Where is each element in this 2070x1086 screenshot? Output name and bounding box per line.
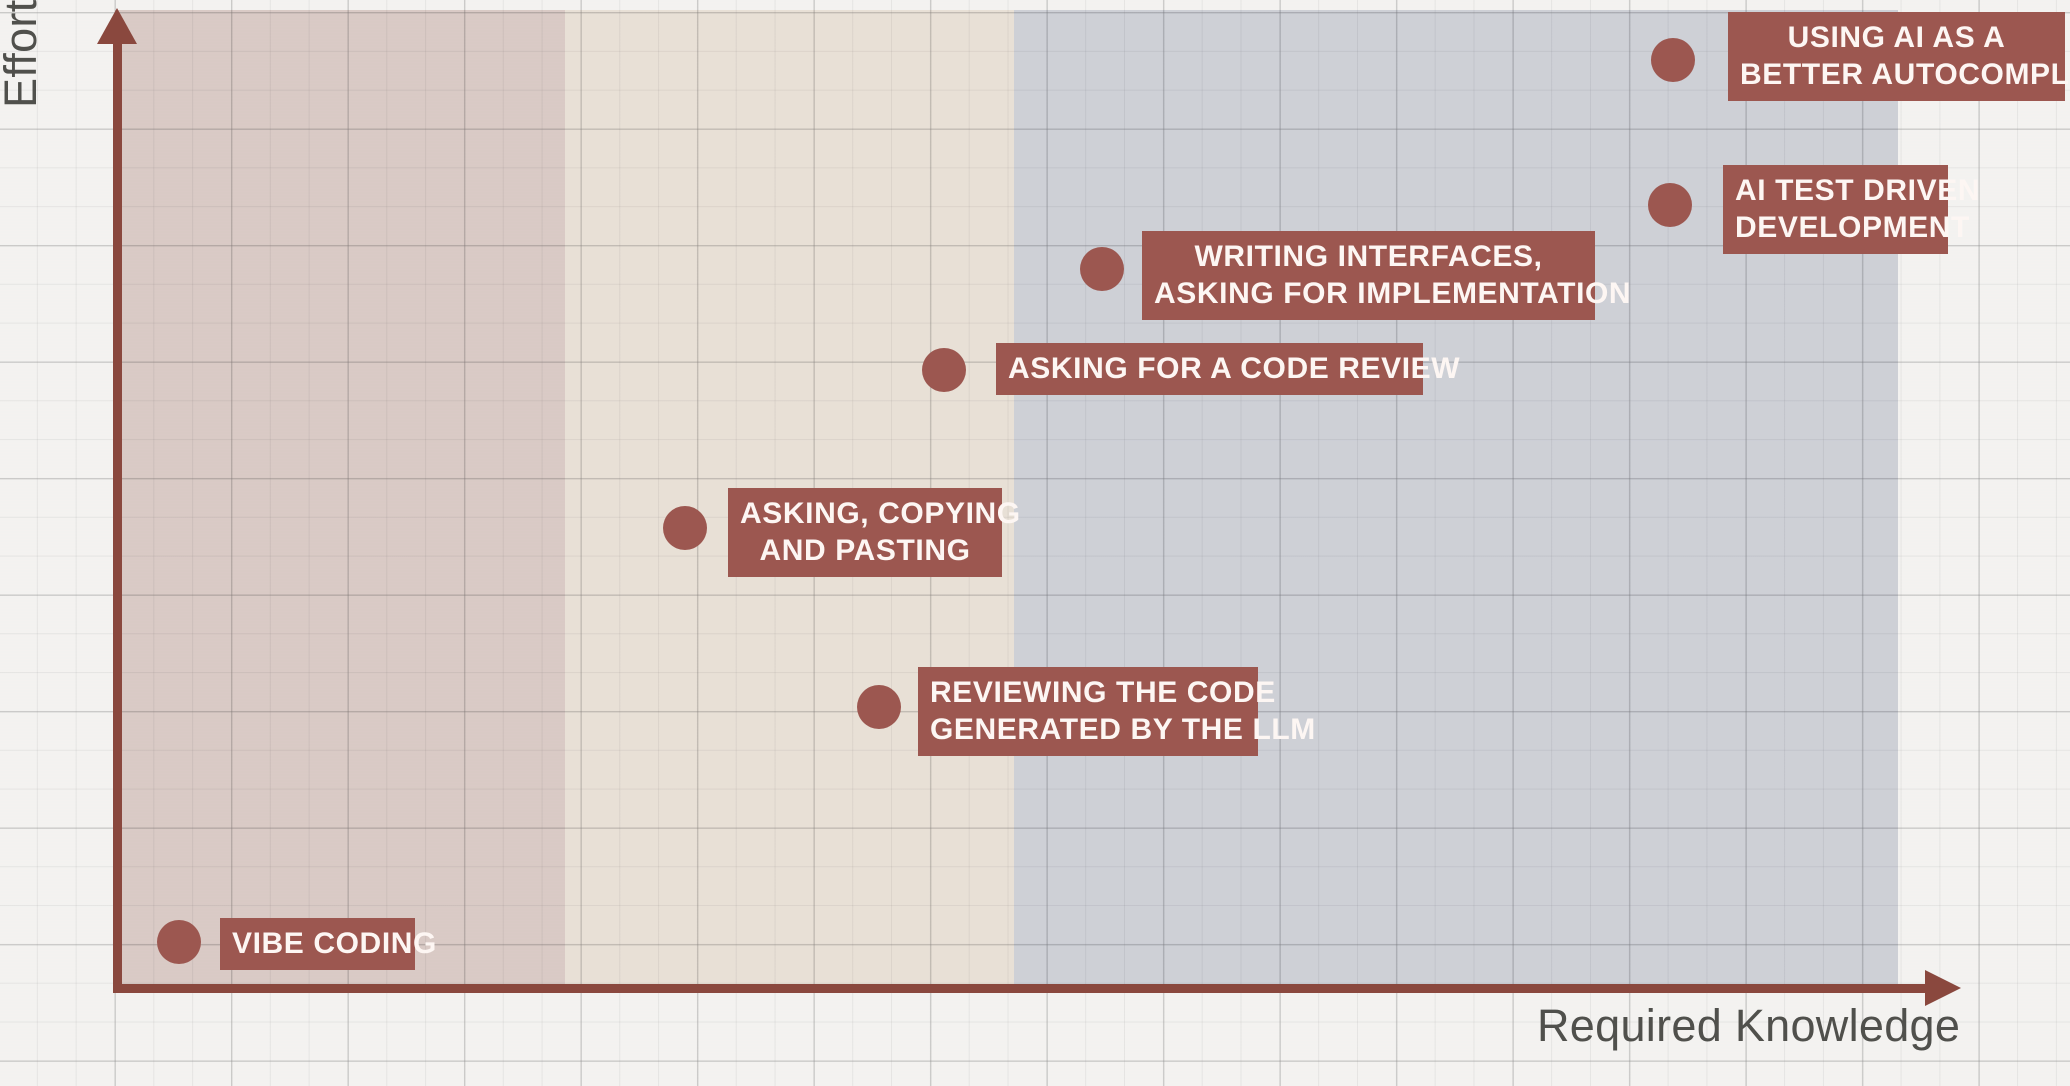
data-point-writing-interfaces[interactable]: [1080, 247, 1124, 291]
data-point-ai-test-driven-development[interactable]: [1648, 183, 1692, 227]
data-point-asking-copying-pasting[interactable]: [663, 506, 707, 550]
x-axis-title: Required Knowledge: [1537, 1000, 1960, 1052]
label-asking-code-review[interactable]: ASKING FOR A CODE REVIEW: [996, 343, 1423, 395]
x-axis-line: [113, 984, 1930, 993]
label-writing-interfaces[interactable]: WRITING INTERFACES, ASKING FOR IMPLEMENT…: [1142, 231, 1595, 320]
label-using-ai-autocomplete[interactable]: USING AI AS A BETTER AUTOCOMPLETE: [1728, 12, 2065, 101]
y-axis-arrowhead-icon: [97, 8, 137, 44]
chart-canvas: Effort Required Knowledge USING AI AS A …: [0, 0, 2070, 1086]
band-high-knowledge: [1014, 10, 1898, 990]
data-point-reviewing-generated-code[interactable]: [857, 685, 901, 729]
label-asking-copying-pasting[interactable]: ASKING, COPYING AND PASTING: [728, 488, 1002, 577]
y-axis-line: [113, 30, 122, 992]
data-point-using-ai-autocomplete[interactable]: [1651, 38, 1695, 82]
data-point-asking-code-review[interactable]: [922, 348, 966, 392]
label-reviewing-generated-code[interactable]: REVIEWING THE CODE GENERATED BY THE LLM: [918, 667, 1258, 756]
band-low-knowledge: [115, 10, 565, 990]
data-point-vibe-coding[interactable]: [157, 920, 201, 964]
y-axis-title: Effort: [0, 0, 47, 108]
label-ai-test-driven-development[interactable]: AI TEST DRIVEN DEVELOPMENT: [1723, 165, 1948, 254]
label-vibe-coding[interactable]: VIBE CODING: [220, 918, 415, 970]
